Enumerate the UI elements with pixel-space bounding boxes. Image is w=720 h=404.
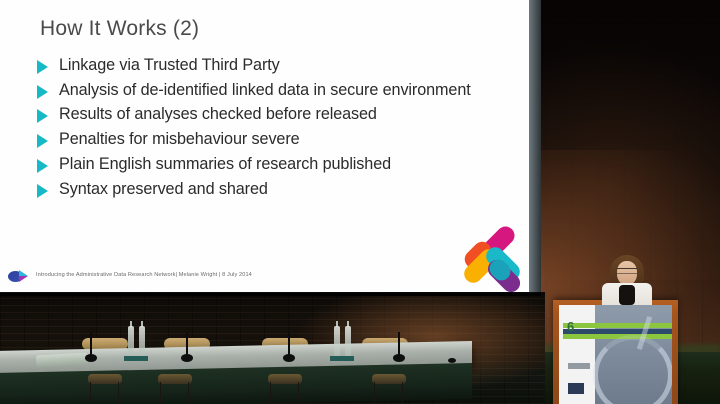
lectern-sponsor-logo-1 xyxy=(568,363,590,369)
bottle-coaster xyxy=(124,356,148,361)
triangle-right-icon xyxy=(37,154,59,173)
projection-screen: How It Works (2) Linkage via Trusted Thi… xyxy=(0,0,541,293)
microphone-base xyxy=(393,354,405,362)
lectern-six-graphic xyxy=(593,335,672,404)
foreground-chair xyxy=(158,374,192,384)
panel-table-photo xyxy=(0,292,545,404)
triangle-right-icon xyxy=(37,179,59,198)
triangle-right-icon xyxy=(37,55,59,74)
bullet-text: Linkage via Trusted Third Party xyxy=(59,55,280,76)
presentation-screenshot: 6 xyxy=(0,0,720,404)
bullet-list: Linkage via Trusted Third Party Analysis… xyxy=(37,55,507,203)
microphone-base xyxy=(448,358,456,363)
lectern-banner: 6 xyxy=(559,305,672,404)
triangle-right-icon xyxy=(37,80,59,99)
speaker-top xyxy=(619,285,635,305)
ukds-logo-icon xyxy=(8,270,34,283)
list-item: Penalties for misbehaviour severe xyxy=(37,129,507,150)
water-bottle xyxy=(345,326,351,356)
bottle-coaster xyxy=(330,356,354,361)
list-item: Analysis of de-identified linked data in… xyxy=(37,80,507,101)
bullet-text: Syntax preserved and shared xyxy=(59,179,268,200)
list-item: Syntax preserved and shared xyxy=(37,179,507,200)
water-bottle xyxy=(128,326,134,356)
triangle-right-icon xyxy=(37,129,59,148)
slide-footer: Introducing the Administrative Data Rese… xyxy=(36,272,252,278)
bullet-text: Analysis of de-identified linked data in… xyxy=(59,80,471,101)
lectern-stripe-green xyxy=(563,323,672,328)
foreground-chair xyxy=(268,374,302,384)
water-bottle xyxy=(334,326,340,356)
microphone-base xyxy=(85,354,97,362)
screen-edge xyxy=(529,0,541,293)
foreground-chair xyxy=(88,374,122,384)
glasses-icon xyxy=(617,268,637,274)
foreground-chair xyxy=(372,374,406,384)
bullet-text: Results of analyses checked before relea… xyxy=(59,104,377,125)
list-item: Linkage via Trusted Third Party xyxy=(37,55,507,76)
lectern: 6 xyxy=(553,300,678,404)
list-item: Plain English summaries of research publ… xyxy=(37,154,507,175)
bullet-text: Plain English summaries of research publ… xyxy=(59,154,391,175)
lectern-sponsor-logo-2 xyxy=(568,383,584,394)
presentation-slide: How It Works (2) Linkage via Trusted Thi… xyxy=(0,0,529,292)
screen-bottom-shadow xyxy=(0,292,541,296)
microphone-base xyxy=(283,354,295,362)
speaker xyxy=(600,255,654,303)
page-title: How It Works (2) xyxy=(40,17,199,41)
bullet-text: Penalties for misbehaviour severe xyxy=(59,129,300,150)
triangle-right-icon xyxy=(37,104,59,123)
list-item: Results of analyses checked before relea… xyxy=(37,104,507,125)
water-bottle xyxy=(139,326,145,356)
microphone-base xyxy=(181,354,193,362)
lectern-festival-mark: 6 xyxy=(567,319,579,335)
adrn-logo-icon xyxy=(455,233,525,292)
